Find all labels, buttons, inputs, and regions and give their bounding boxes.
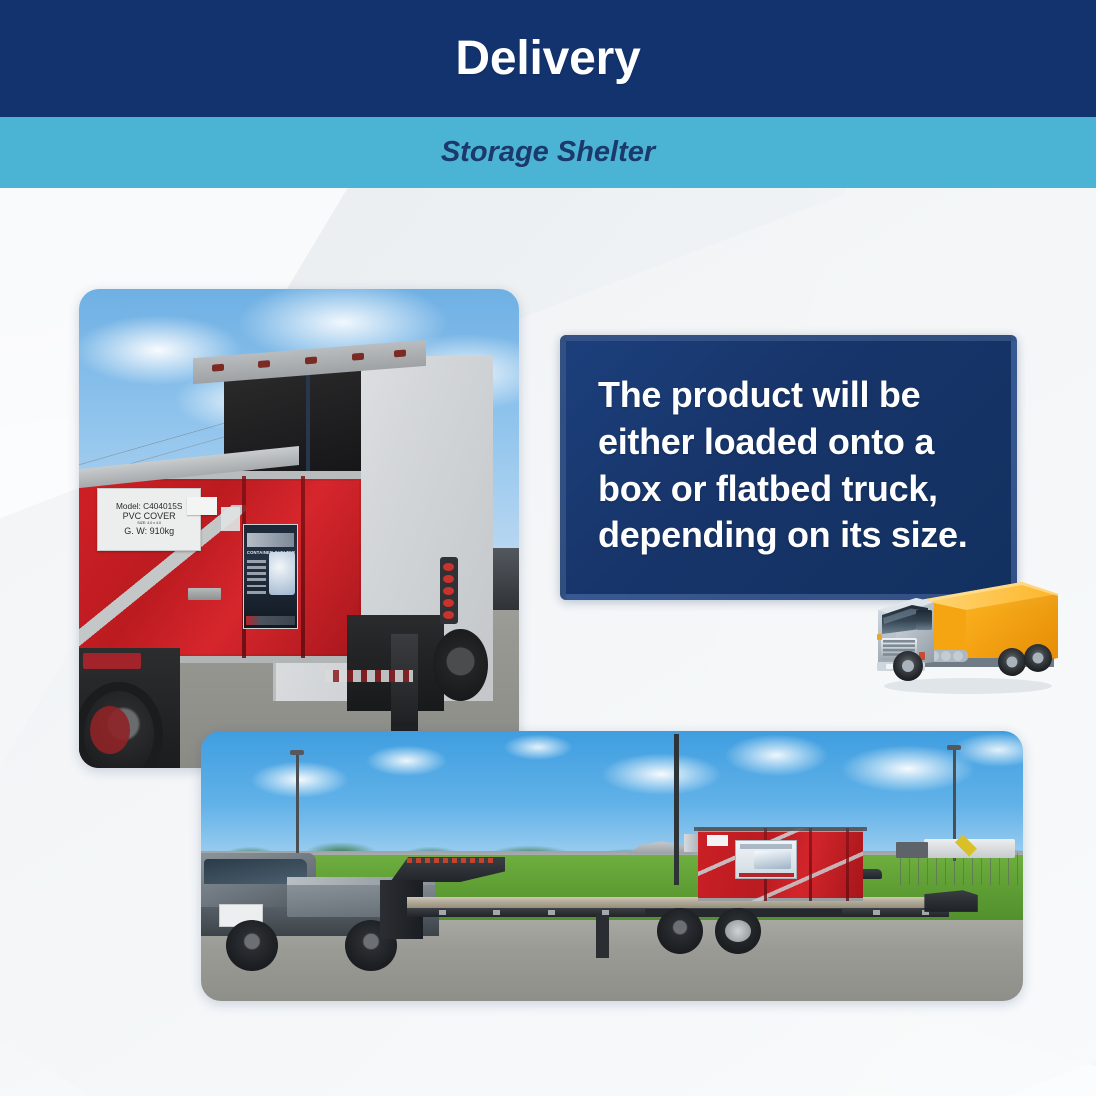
poster-product-photo bbox=[754, 851, 791, 869]
photo-flatbed-content bbox=[201, 731, 1023, 1001]
crate-panel-seam bbox=[301, 476, 305, 658]
light-pole bbox=[296, 753, 299, 861]
trailer-jack-stand bbox=[596, 915, 609, 958]
crate-shipping-label bbox=[707, 835, 728, 846]
crate-handle bbox=[188, 588, 221, 599]
pickup-front-wheel bbox=[226, 920, 279, 971]
truck-rear-wheel bbox=[433, 629, 488, 701]
poster-text-line bbox=[247, 560, 266, 563]
poster-text-line bbox=[247, 591, 266, 594]
box-truck-icon bbox=[872, 566, 1062, 698]
poster-footer-band bbox=[739, 873, 794, 877]
poster-header-band bbox=[247, 533, 294, 547]
forklift-red-trim bbox=[83, 653, 140, 669]
crate-product-poster: CONTAINER SHELTER bbox=[243, 524, 298, 629]
crate-product-poster bbox=[735, 840, 797, 879]
photo-flatbed-trailer bbox=[201, 731, 1023, 1001]
trailer-wheel bbox=[715, 908, 761, 954]
crate-label-product: PVC COVER bbox=[123, 512, 176, 521]
trailer-wheel bbox=[657, 908, 703, 954]
poster-text-line bbox=[247, 566, 266, 569]
photo-truck-loading: Model: C404015S PVC COVER SIZE: 4.0 x 4.… bbox=[79, 289, 519, 768]
page-subtitle: Storage Shelter bbox=[441, 138, 655, 167]
flatbed-rear-ramp bbox=[924, 890, 977, 912]
rear-bumper bbox=[325, 670, 413, 682]
liftgate bbox=[391, 634, 417, 739]
crate-label-weight: G. W: 910kg bbox=[124, 527, 174, 536]
poster-text-line bbox=[247, 572, 266, 575]
photo-truck-loading-content: Model: C404015S PVC COVER SIZE: 4.0 x 4.… bbox=[79, 289, 519, 768]
background-truck-cab bbox=[896, 842, 929, 858]
light-pole-head bbox=[947, 745, 961, 750]
truck-marker-light bbox=[877, 634, 882, 640]
page-title: Delivery bbox=[455, 35, 640, 83]
forklift-wheel-hub bbox=[90, 706, 130, 754]
subtitle-band: Storage Shelter bbox=[0, 117, 1096, 188]
rear-light-cluster bbox=[440, 557, 458, 624]
callout-card: The product will be either loaded onto a… bbox=[560, 335, 1017, 600]
title-band: Delivery bbox=[0, 0, 1096, 117]
callout-text: The product will be either loaded onto a… bbox=[598, 372, 985, 559]
poster-text-line bbox=[247, 585, 266, 588]
crate-logo-patch bbox=[221, 507, 240, 531]
crate-label-model: Model: C404015S bbox=[116, 502, 182, 511]
crate-white-sticker bbox=[187, 497, 217, 514]
poster-footer-band bbox=[246, 616, 295, 625]
utility-pole bbox=[674, 734, 679, 885]
crate-panel-seam bbox=[846, 828, 849, 901]
gooseneck-marker-lights bbox=[407, 858, 493, 863]
crate-panel-seam bbox=[809, 828, 812, 901]
light-pole-head bbox=[290, 750, 304, 755]
poster-header-band bbox=[740, 844, 792, 848]
poster-text-line bbox=[247, 578, 266, 581]
slide-canvas: Delivery Storage Shelter bbox=[0, 0, 1096, 1096]
poster-product-photo bbox=[269, 552, 295, 595]
crate-top-strap bbox=[694, 827, 867, 831]
crate-shipping-label: Model: C404015S PVC COVER SIZE: 4.0 x 4.… bbox=[97, 488, 200, 551]
truck-side-window bbox=[916, 610, 932, 630]
